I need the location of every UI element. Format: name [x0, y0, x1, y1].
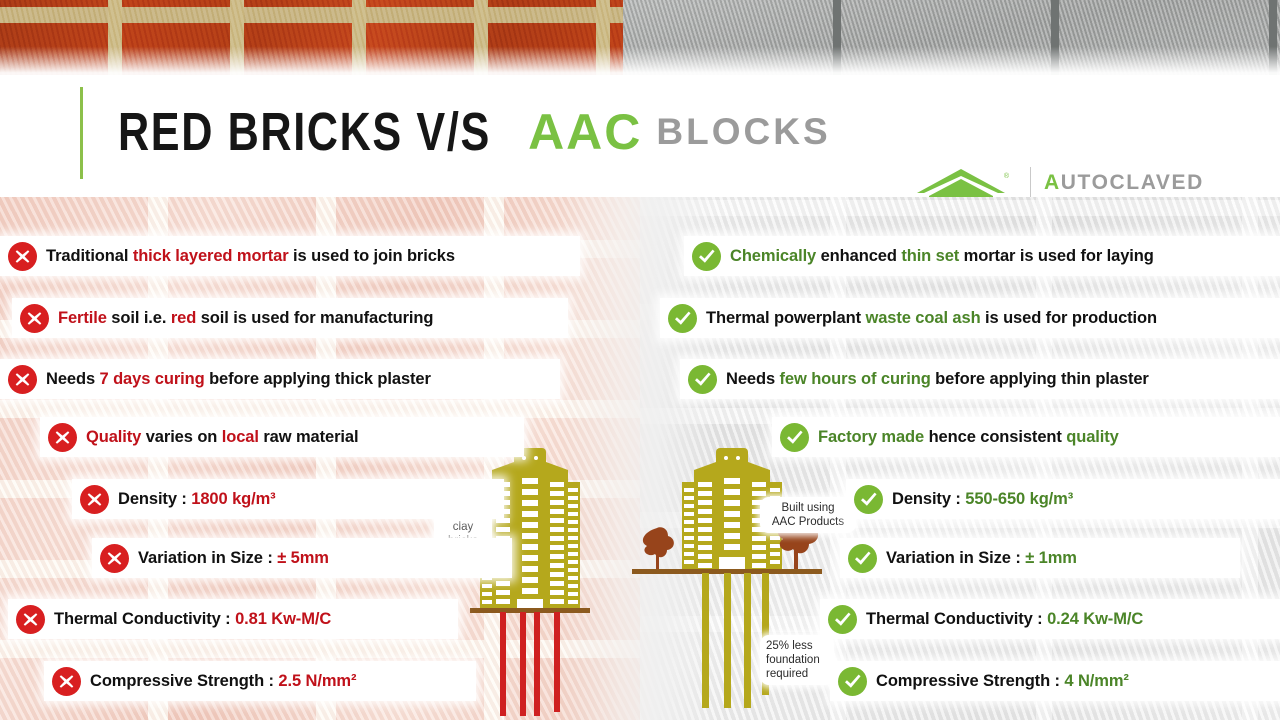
- banner-aac-block-texture: [623, 0, 1280, 75]
- acronym-line-1: AUTOCLAVED: [1044, 170, 1243, 196]
- cross-circle-icon: [8, 365, 37, 394]
- tree-left-icon: [643, 527, 674, 570]
- registered-trademark-icon: ®: [1004, 173, 1009, 180]
- cross-circle-icon: [100, 544, 129, 573]
- comparison-row-text: Thermal Conductivity : 0.81 Kw-M/C: [54, 610, 331, 629]
- cross-circle-icon: [52, 667, 81, 696]
- comparison-row: Thermal Conductivity : 0.24 Kw-M/C: [820, 599, 1280, 639]
- comparison-row-text: Factory made hence consistent quality: [818, 428, 1119, 447]
- comparison-row: Chemically enhanced thin set mortar is u…: [684, 236, 1280, 276]
- comparison-row-text: Fertile soil i.e. red soil is used for m…: [58, 309, 433, 328]
- check-circle-icon: [780, 423, 809, 452]
- comparison-row: Fertile soil i.e. red soil is used for m…: [12, 298, 568, 338]
- banner-brick-texture: [0, 0, 623, 75]
- comparison-row-text: Thermal powerplant waste coal ash is use…: [706, 309, 1157, 328]
- comparison-row: Thermal Conductivity : 0.81 Kw-M/C: [8, 599, 458, 639]
- comparison-row: Needs 7 days curing before applying thic…: [0, 359, 560, 399]
- cross-circle-icon: [8, 242, 37, 271]
- callout-right-building-top-text: Built using AAC Products: [772, 502, 844, 528]
- check-circle-icon: [848, 544, 877, 573]
- comparison-row: Density : 1800 kg/m³: [72, 479, 504, 519]
- right-ground-line: [780, 569, 820, 574]
- title-main-text: RED BRICKS V/S: [118, 89, 491, 175]
- check-circle-icon: [838, 667, 867, 696]
- callout-right-building-bottom: 25% less foundation required: [760, 635, 834, 685]
- comparison-row: Compressive Strength : 2.5 N/mm²: [44, 661, 476, 701]
- check-circle-icon: [668, 304, 697, 333]
- page-title: RED BRICKS V/SAACBLOCKS: [118, 89, 831, 175]
- comparison-row-text: Density : 550-650 kg/m³: [892, 490, 1073, 509]
- check-circle-icon: [828, 605, 857, 634]
- comparison-row: Variation in Size : ± 1mm: [840, 538, 1240, 578]
- check-circle-icon: [854, 485, 883, 514]
- comparison-row-text: Quality varies on local raw material: [86, 428, 358, 447]
- check-circle-icon: [692, 242, 721, 271]
- cross-circle-icon: [16, 605, 45, 634]
- comparison-row: Compressive Strength : 4 N/mm²: [830, 661, 1280, 701]
- cross-circle-icon: [48, 423, 77, 452]
- comparison-row: Density : 550-650 kg/m³: [846, 479, 1280, 519]
- title-band: RED BRICKS V/SAACBLOCKS GO GREEN ® build…: [0, 75, 1280, 197]
- comparison-row-text: Compressive Strength : 2.5 N/mm²: [90, 672, 356, 691]
- acronym-capital: A: [1044, 171, 1061, 194]
- infographic-root: RED BRICKS V/SAACBLOCKS GO GREEN ® build…: [0, 0, 1280, 720]
- comparison-row: Needs few hours of curing before applyin…: [680, 359, 1280, 399]
- comparison-row-text: Traditional thick layered mortar is used…: [46, 247, 455, 266]
- comparison-row: Traditional thick layered mortar is used…: [0, 236, 580, 276]
- comparison-row-text: Thermal Conductivity : 0.24 Kw-M/C: [866, 610, 1143, 629]
- comparison-row: Variation in Size : ± 5mm: [92, 538, 512, 578]
- comparison-row-text: Chemically enhanced thin set mortar is u…: [730, 247, 1154, 266]
- comparison-row-text: Needs 7 days curing before applying thic…: [46, 370, 431, 389]
- title-blocks-text: BLOCKS: [656, 89, 830, 175]
- title-aac-text: AAC: [528, 89, 642, 175]
- check-circle-icon: [688, 365, 717, 394]
- comparison-row-text: Compressive Strength : 4 N/mm²: [876, 672, 1129, 691]
- callout-right-building-top: Built using AAC Products: [760, 497, 856, 533]
- cross-circle-icon: [20, 304, 49, 333]
- callout-right-building-bottom-text: 25% less foundation required: [766, 640, 820, 680]
- cross-circle-icon: [80, 485, 109, 514]
- comparison-row-text: Variation in Size : ± 5mm: [138, 549, 329, 568]
- title-accent-bar: [80, 87, 83, 179]
- comparison-row: Factory made hence consistent quality: [772, 417, 1280, 457]
- acronym-rest: UTOCLAVED: [1061, 171, 1204, 194]
- top-banner: [0, 0, 1280, 75]
- comparison-row-text: Density : 1800 kg/m³: [118, 490, 276, 509]
- comparison-row: Quality varies on local raw material: [40, 417, 524, 457]
- comparison-row-text: Needs few hours of curing before applyin…: [726, 370, 1149, 389]
- comparison-row: Thermal powerplant waste coal ash is use…: [660, 298, 1280, 338]
- comparison-row-text: Variation in Size : ± 1mm: [886, 549, 1077, 568]
